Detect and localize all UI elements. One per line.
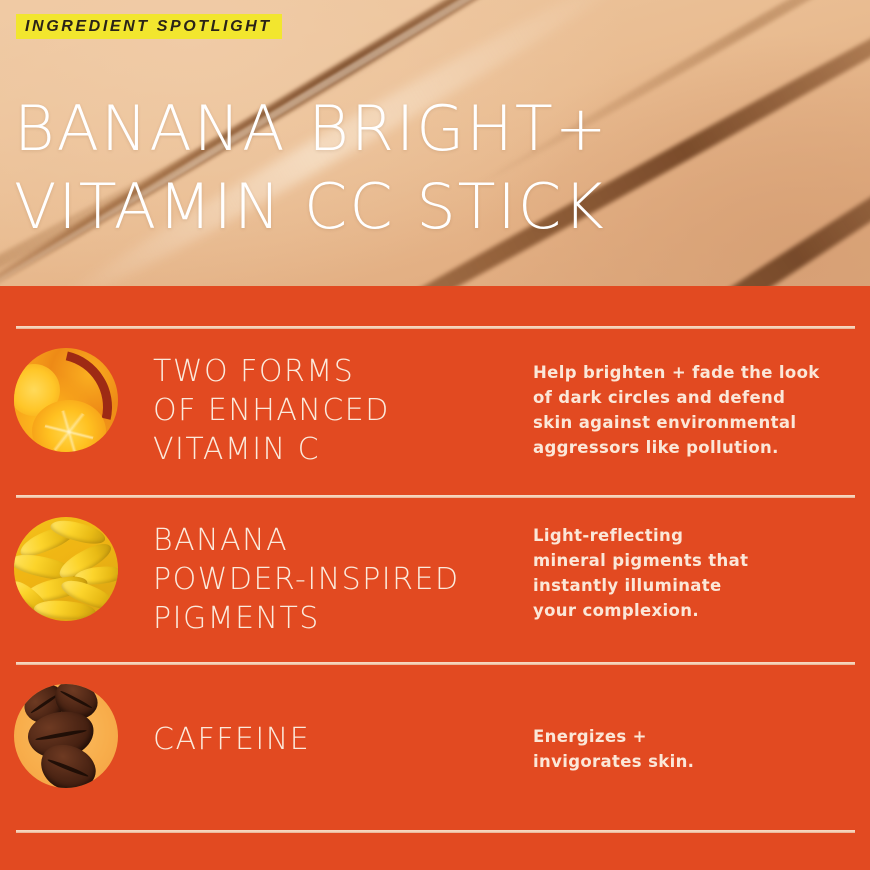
ingredient-description-column: Help brighten + fade the look of dark ci… xyxy=(533,348,859,460)
ingredient-icon-wrap xyxy=(14,517,118,621)
ingredient-icon-wrap xyxy=(14,684,118,788)
desc-line-3: instantly illuminate xyxy=(533,573,859,598)
divider xyxy=(16,495,855,498)
desc-line-2: invigorates skin. xyxy=(533,749,859,774)
ingredient-row: TWO FORMS OF ENHANCED VITAMIN C Help bri… xyxy=(0,348,870,469)
ingredient-description: Help brighten + fade the look of dark ci… xyxy=(533,360,859,460)
ingredient-heading: CAFFEINE xyxy=(153,684,533,759)
ingredient-description: Light-reflecting mineral pigments that i… xyxy=(533,523,859,623)
ingredient-icon-wrap xyxy=(14,348,118,452)
ingredient-spotlight-poster: INGREDIENT SPOTLIGHT BANANA BRIGHT+ VITA… xyxy=(0,0,870,870)
heading-line-1: BANANA xyxy=(153,521,533,560)
desc-line-4: aggressors like pollution. xyxy=(533,435,859,460)
ingredient-list: TWO FORMS OF ENHANCED VITAMIN C Help bri… xyxy=(0,286,870,870)
ingredient-spotlight-badge: INGREDIENT SPOTLIGHT xyxy=(16,14,282,39)
divider xyxy=(16,830,855,833)
ingredient-heading: TWO FORMS OF ENHANCED VITAMIN C xyxy=(153,348,533,469)
heading-line-3: PIGMENTS xyxy=(153,599,533,638)
desc-line-1: Light-reflecting xyxy=(533,523,859,548)
heading-line-1: CAFFEINE xyxy=(153,720,533,759)
divider xyxy=(16,662,855,665)
banana-icon xyxy=(14,517,118,621)
heading-line-2: POWDER-INSPIRED xyxy=(153,560,533,599)
divider xyxy=(16,326,855,329)
ingredient-heading: BANANA POWDER-INSPIRED PIGMENTS xyxy=(153,517,533,638)
heading-line-3: VITAMIN C xyxy=(153,430,533,469)
heading-line-1: TWO FORMS xyxy=(153,352,533,391)
desc-line-2: of dark circles and defend xyxy=(533,385,859,410)
ingredient-heading-column: BANANA POWDER-INSPIRED PIGMENTS xyxy=(153,517,533,638)
title-line-2: VITAMIN CC STICK xyxy=(14,168,609,246)
coffee-bean-icon xyxy=(14,684,118,788)
title-line-1: BANANA BRIGHT+ xyxy=(14,90,609,168)
orange-citrus-icon xyxy=(14,348,118,452)
ingredient-heading-column: TWO FORMS OF ENHANCED VITAMIN C xyxy=(153,348,533,469)
ingredient-row: CAFFEINE Energizes + invigorates skin. xyxy=(0,684,870,788)
desc-line-3: skin against environmental xyxy=(533,410,859,435)
desc-line-4: your complexion. xyxy=(533,598,859,623)
ingredient-heading-column: CAFFEINE xyxy=(153,684,533,759)
hero-banner: INGREDIENT SPOTLIGHT BANANA BRIGHT+ VITA… xyxy=(0,0,870,286)
ingredient-description: Energizes + invigorates skin. xyxy=(533,724,859,774)
desc-line-2: mineral pigments that xyxy=(533,548,859,573)
page-title: BANANA BRIGHT+ VITAMIN CC STICK xyxy=(14,90,609,246)
ingredient-description-column: Energizes + invigorates skin. xyxy=(533,684,859,774)
desc-line-1: Energizes + xyxy=(533,724,859,749)
heading-line-2: OF ENHANCED xyxy=(153,391,533,430)
desc-line-1: Help brighten + fade the look xyxy=(533,360,859,385)
ingredient-description-column: Light-reflecting mineral pigments that i… xyxy=(533,517,859,623)
badge-label: INGREDIENT SPOTLIGHT xyxy=(25,19,272,35)
ingredient-row: BANANA POWDER-INSPIRED PIGMENTS Light-re… xyxy=(0,517,870,638)
